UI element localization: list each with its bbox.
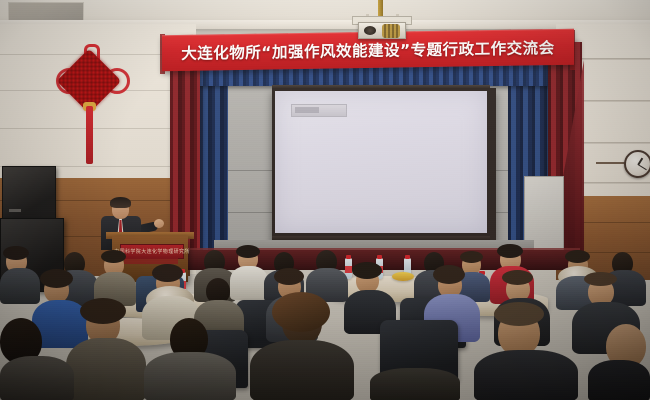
podium-sign-secondary: [124, 258, 178, 264]
ceiling-vent: [8, 2, 84, 22]
audience-hair: [460, 251, 483, 263]
audience-body: [0, 268, 40, 304]
audience-hair: [565, 250, 590, 263]
projected-dialog-window[interactable]: [291, 104, 347, 117]
podium-sign-text: 中国科学院大连化学物理研究所: [121, 245, 183, 258]
presenter-hair: [110, 197, 131, 208]
audience-hair: [274, 268, 304, 285]
audience-hair: [497, 244, 523, 258]
audience-hair: [101, 250, 126, 263]
projector-lens-icon: [364, 26, 376, 35]
audience-hair: [352, 262, 382, 279]
bottle-cap: [405, 255, 410, 259]
audience-body: [144, 352, 236, 400]
audience-hair: [494, 302, 544, 326]
conference-hall-photo: 大连化物所“加强作风效能建设”专题行政工作交流会 中国科学院大连化学物理研究所: [0, 0, 650, 400]
projection-screen: [275, 91, 487, 233]
pa-loudspeaker-upper: [2, 166, 56, 220]
projected-dialog-titlebar: [295, 107, 319, 113]
bottle-label: [345, 266, 352, 273]
presenter-hand: [154, 219, 164, 228]
audience-body: [474, 350, 578, 400]
audience-hair: [3, 246, 29, 260]
audience-body: [588, 360, 650, 400]
chinese-knot-decoration: [58, 44, 120, 170]
audience-body: [230, 266, 268, 300]
audience-body: [66, 338, 146, 400]
audience-body: [250, 340, 354, 400]
audience-hair: [236, 245, 260, 258]
bottle-cap: [346, 255, 351, 259]
audience-hair: [433, 265, 465, 284]
audience-hair: [584, 272, 617, 286]
wall-clock-icon: [624, 150, 650, 178]
audience-hair: [152, 264, 183, 282]
audience-ponytail: [272, 292, 330, 332]
fruit-plate: [392, 272, 414, 281]
audience-hair: [40, 269, 73, 288]
audience-hair: [80, 298, 126, 324]
projector-cable: [382, 24, 400, 38]
podium-sign: 中国科学院大连化学物理研究所: [120, 244, 184, 259]
audience-body: [370, 368, 460, 400]
audience-hair: [502, 270, 533, 285]
bottle-cap: [377, 255, 382, 259]
stage-curtain-red-left: [170, 40, 200, 262]
knot-tassel: [86, 106, 93, 164]
audience-body: [0, 356, 74, 400]
